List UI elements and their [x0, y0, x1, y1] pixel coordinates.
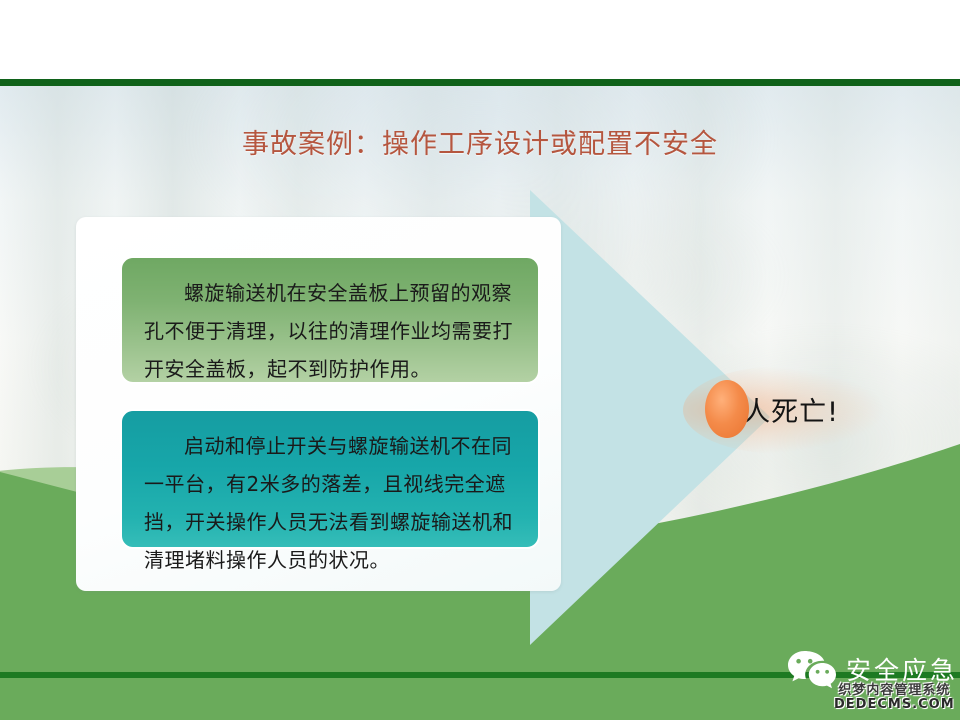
cause-box-1: 螺旋输送机在安全盖板上预留的观察孔不便于清理，以往的清理作业均需要打开安全盖板，…: [120, 256, 540, 384]
slide-canvas: 事故案例：操作工序设计或配置不安全 螺旋输送机在安全盖板上预留的观察孔不便于清理…: [0, 0, 960, 720]
orange-dot-icon: [705, 380, 749, 438]
fatality-callout: 1人死亡!: [705, 380, 839, 438]
dedecms-watermark: 织梦内容管理系统 DEDECMS.COM: [834, 684, 955, 711]
wechat-icon: [786, 648, 838, 690]
watermark-line-en: DEDECMS.COM: [834, 698, 955, 712]
cause-box-2: 启动和停止开关与螺旋输送机不在同一平台，有2米多的落差，且视线完全遮挡，开关操作…: [120, 409, 540, 549]
page-title: 事故案例：操作工序设计或配置不安全: [0, 122, 960, 161]
top-divider-rule: [0, 79, 960, 86]
watermark-line-cn: 织梦内容管理系统: [834, 684, 955, 698]
brand-label: 安全应急: [846, 651, 958, 687]
